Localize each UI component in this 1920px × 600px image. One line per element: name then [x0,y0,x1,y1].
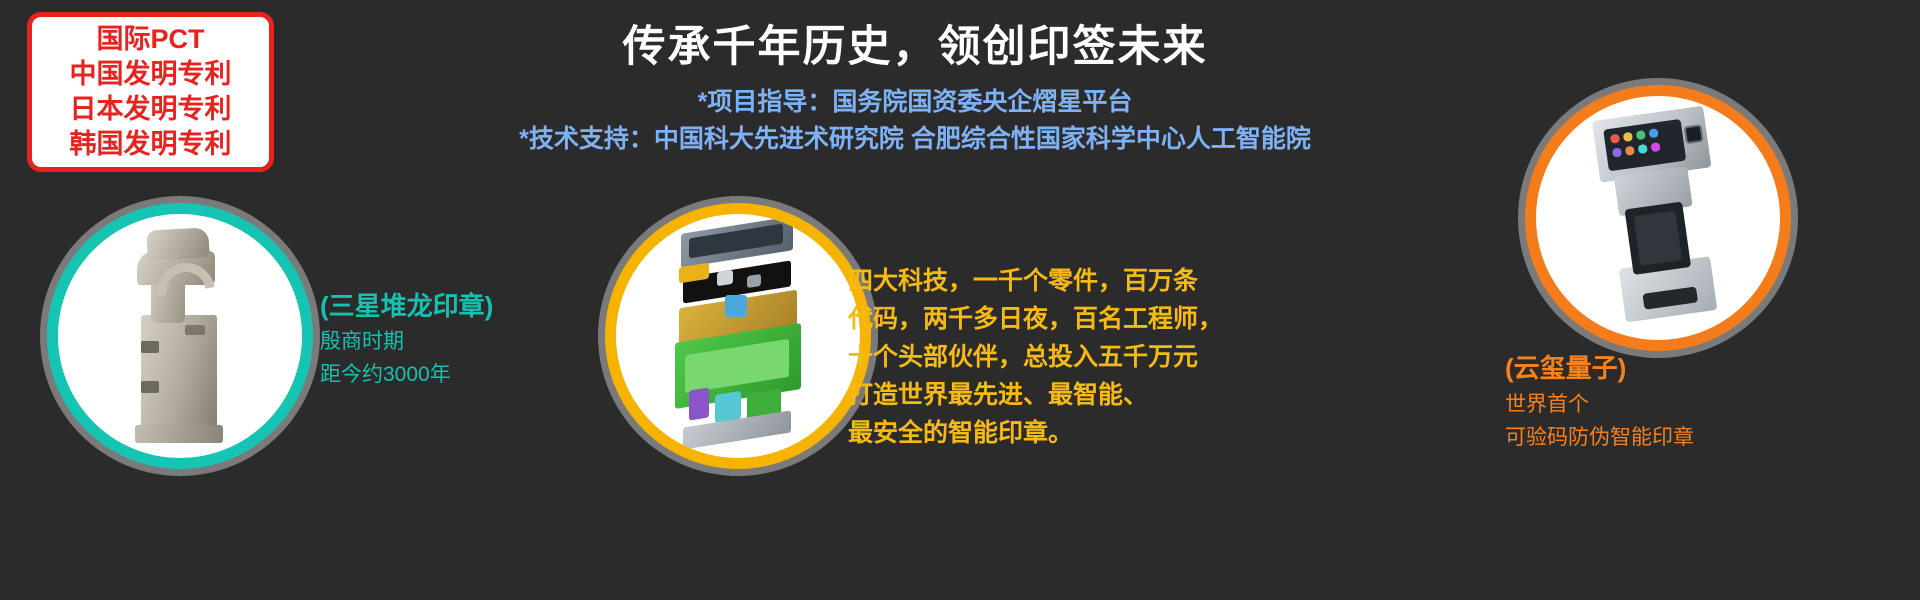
headline-block: 传承千年历史，领创印签未来 *项目指导：国务院国资委央企熠星平台 *技术支持：中… [300,18,1530,158]
patent-badge: 国际PCT 中国发明专利 日本发明专利 韩国发明专利 [27,12,274,172]
caption-ancient-seal-title: (三星堆龙印章) [320,288,493,325]
patent-badge-line-4: 韩国发明专利 [70,127,232,162]
caption-smart-seal-title: (云玺量子) [1505,348,1694,388]
caption-ancient-seal-line-2: 距今约3000年 [320,358,493,391]
ancient-stone-seal-illustration [125,229,235,444]
center-text-line-5: 最安全的智能印章。 [848,414,1223,452]
center-text-line-3: 十个头部伙伴，总投入五千万元 [848,338,1223,376]
subtitle-tech-support: *技术支持：中国科大先进术研究院 合肥综合性国家科学中心人工智能院 [300,121,1530,158]
poster-canvas: 国际PCT 中国发明专利 日本发明专利 韩国发明专利 传承千年历史，领创印签未来… [0,0,1920,600]
center-text-line-2: 代码，两千多日夜，百名工程师， [848,300,1223,338]
center-text-line-1: 四大科技，一千个零件，百万条 [848,262,1223,300]
center-description-text: 四大科技，一千个零件，百万条 代码，两千多日夜，百名工程师， 十个头部伙伴，总投… [848,262,1223,452]
caption-ancient-seal-line-1: 殷商时期 [320,325,493,358]
circle-image-smart-seal [1525,85,1791,351]
patent-badge-line-1: 国际PCT [97,22,205,57]
caption-smart-seal: (云玺量子) 世界首个 可验码防伪智能印章 [1505,348,1694,454]
subtitle-project-guidance: *项目指导：国务院国资委央企熠星平台 [300,84,1530,121]
patent-badge-line-3: 日本发明专利 [70,92,232,127]
caption-ancient-seal: (三星堆龙印章) 殷商时期 距今约3000年 [320,288,493,391]
exploded-device-illustration [663,221,813,451]
patent-badge-line-2: 中国发明专利 [70,57,232,92]
caption-smart-seal-line-2: 可验码防伪智能印章 [1505,421,1694,454]
circle-image-exploded-device [605,203,871,469]
circle-image-ancient-seal [47,203,313,469]
page-title: 传承千年历史，领创印签未来 [300,18,1530,76]
smart-seal-device-illustration [1578,105,1738,331]
center-text-line-4: 打造世界最先进、最智能、 [848,376,1223,414]
caption-smart-seal-line-1: 世界首个 [1505,388,1694,421]
